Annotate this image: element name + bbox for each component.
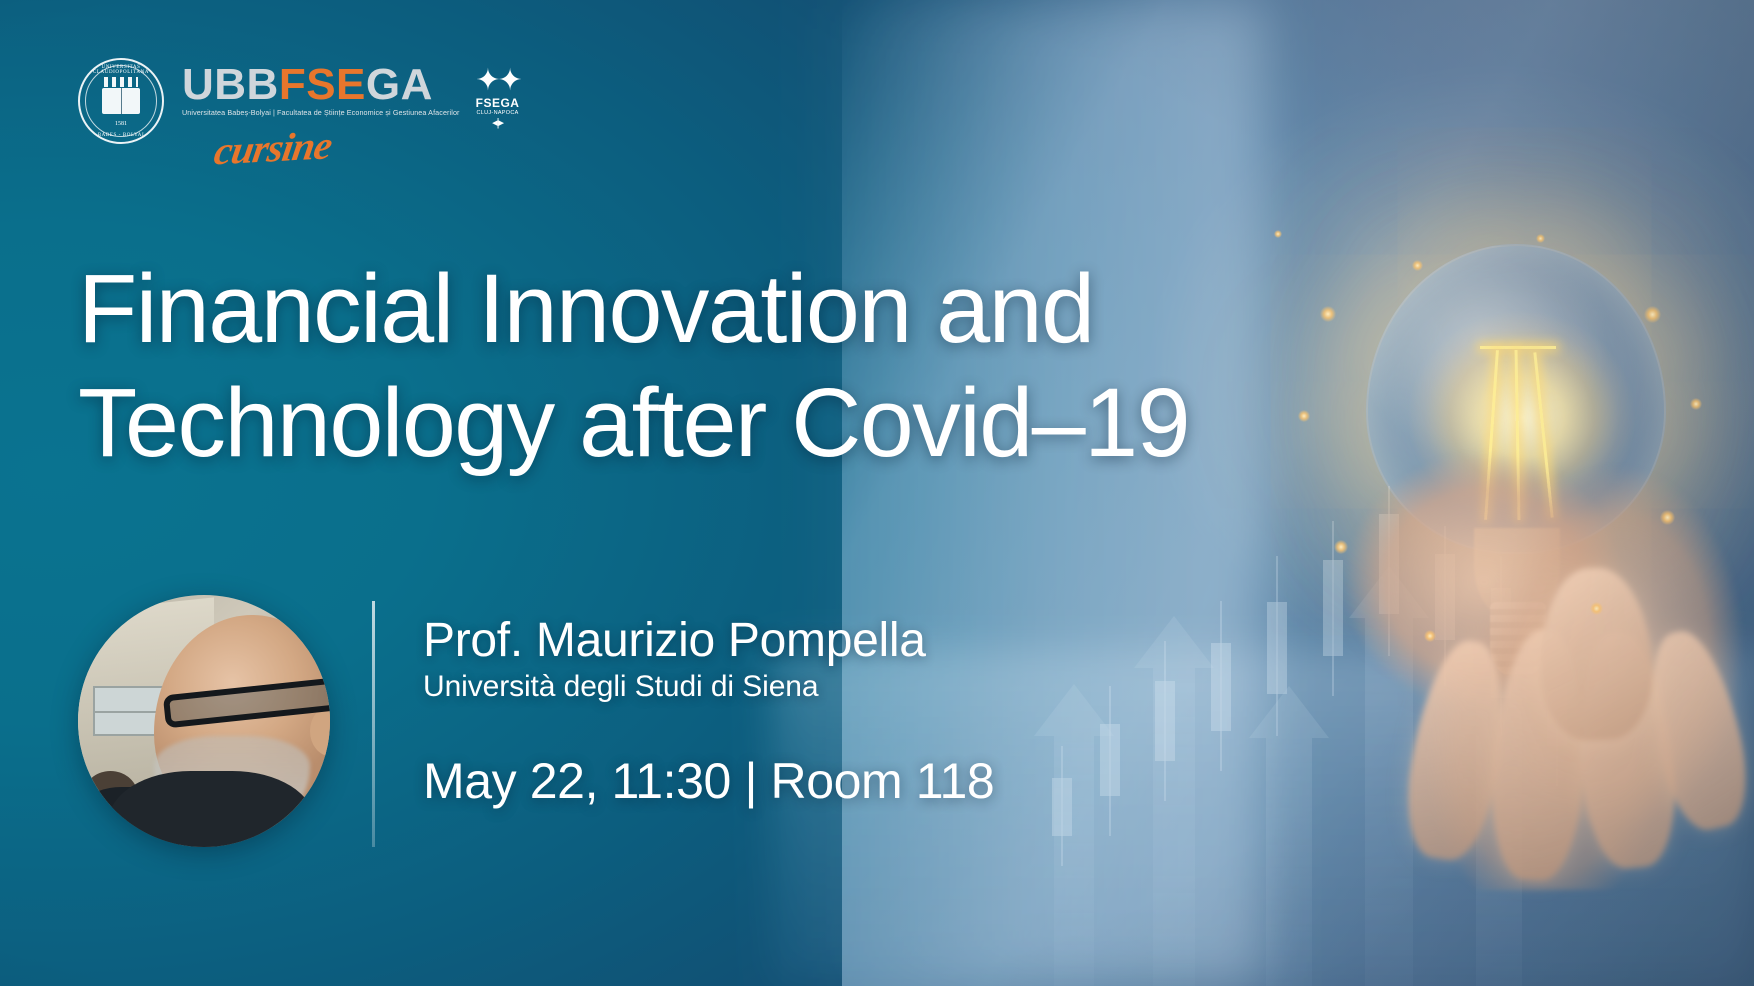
hand-holding-bulb: [1344, 450, 1744, 890]
wordmark-script: cursine: [211, 114, 464, 174]
bulb-filament: [1480, 346, 1556, 349]
seal-arc-top: UNIVERSITAS CLAUDIOPOLITANA: [78, 65, 164, 75]
fsega-diamond-icon: ✦✦ FSEGA CLUJ-NAPOCA ◂|▸: [470, 66, 526, 129]
wordmark-subtitle: Universitatea Babeș-Bolyai | Facultatea …: [182, 108, 460, 117]
speaker-block: Prof. Maurizio Pompella Università degli…: [78, 595, 994, 847]
wordmark-part-ubb: UBB: [182, 60, 279, 109]
vertical-divider: [372, 601, 375, 847]
university-seal-icon: UNIVERSITAS CLAUDIOPOLITANA 1581 BABES -…: [78, 58, 164, 144]
ubbfsega-wordmark: UBBFSEGA Universitatea Babeș-Bolyai | Fa…: [182, 58, 526, 168]
speaker-name: Prof. Maurizio Pompella: [423, 615, 994, 668]
event-poster: UNIVERSITAS CLAUDIOPOLITANA 1581 BABES -…: [0, 0, 1754, 986]
seal-arc-bottom: BABES - BOLYAI: [78, 133, 164, 138]
seal-year: 1581: [78, 121, 164, 127]
branding-logos: UNIVERSITAS CLAUDIOPOLITANA 1581 BABES -…: [78, 58, 526, 168]
avatar: [78, 595, 330, 847]
glowing-lightbulb-icon: [1304, 210, 1734, 850]
event-date-time-room: May 22, 11:30 | Room 118: [423, 752, 994, 810]
poster-title: Financial Innovation and Technology afte…: [78, 252, 1189, 481]
title-line-1: Financial Innovation and: [78, 252, 1189, 366]
speaker-affiliation: Università degli Studi di Siena: [423, 670, 994, 704]
wordmark-part-fse: FSE: [279, 60, 366, 109]
title-line-2: Technology after Covid–19: [78, 366, 1189, 480]
wordmark-part-ga: GA: [366, 60, 433, 109]
fsega-mark-name: FSEGA: [470, 96, 526, 110]
